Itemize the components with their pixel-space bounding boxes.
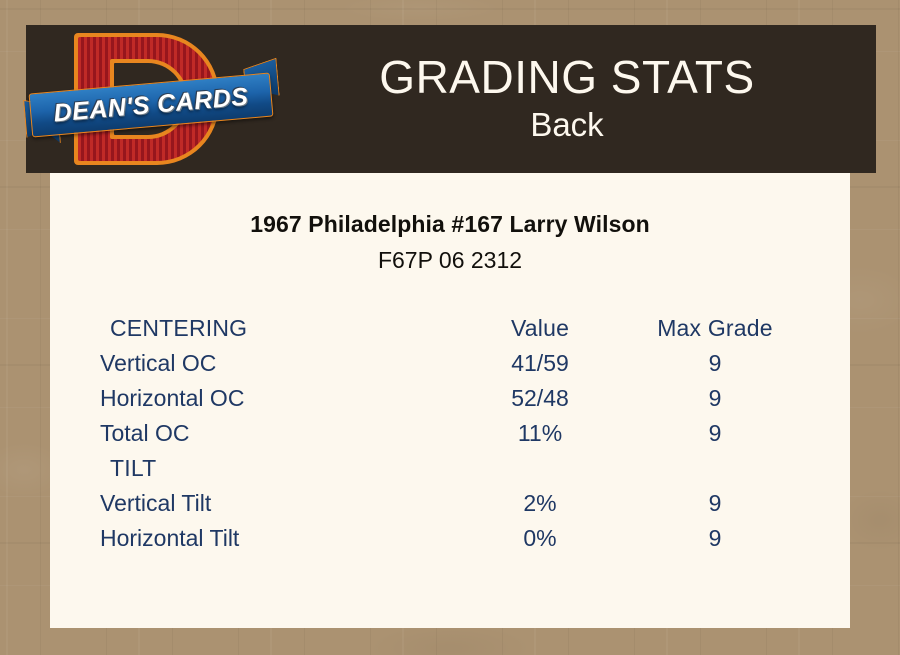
stat-label: Horizontal OC — [100, 381, 450, 416]
table-row: Horizontal OC52/489 — [100, 381, 800, 416]
stat-label: Horizontal Tilt — [100, 521, 450, 556]
table-row: Vertical OC41/599 — [100, 346, 800, 381]
stat-value: 2% — [450, 486, 630, 521]
logo-wordmark: DEAN'S CARDS — [29, 73, 274, 138]
stat-label: Vertical OC — [100, 346, 450, 381]
page-subtitle: Back — [276, 104, 858, 145]
stat-value: 41/59 — [450, 346, 630, 381]
section-header-row: CENTERINGValueMax Grade — [100, 311, 800, 346]
column-header-value: Value — [450, 311, 630, 346]
stat-max-grade: 9 — [630, 346, 800, 381]
section-title: TILT — [100, 451, 450, 486]
stat-label: Vertical Tilt — [100, 486, 450, 521]
stat-max-grade: 9 — [630, 416, 800, 451]
page-title: GRADING STATS — [276, 53, 858, 103]
card-title: 1967 Philadelphia #167 Larry Wilson — [50, 211, 850, 238]
stat-value: 11% — [450, 416, 630, 451]
section-title: CENTERING — [100, 311, 450, 346]
section-header-row: TILT — [100, 451, 800, 486]
table-row: Total OC11%9 — [100, 416, 800, 451]
column-header-max-grade — [630, 451, 800, 486]
grading-stats-table: CENTERINGValueMax GradeVertical OC41/599… — [100, 311, 800, 556]
stat-label: Total OC — [100, 416, 450, 451]
header-title-group: GRADING STATS Back — [276, 53, 876, 146]
column-header-max-grade: Max Grade — [630, 311, 800, 346]
stat-max-grade: 9 — [630, 381, 800, 416]
stat-value: 0% — [450, 521, 630, 556]
logo-ribbon-banner: DEAN'S CARDS — [28, 67, 274, 144]
card-identifier: F67P 06 2312 — [50, 247, 850, 274]
content-panel: 1967 Philadelphia #167 Larry Wilson F67P… — [50, 173, 850, 628]
stat-value: 52/48 — [450, 381, 630, 416]
table-row: Horizontal Tilt0%9 — [100, 521, 800, 556]
table-row: Vertical Tilt2%9 — [100, 486, 800, 521]
column-header-value — [450, 451, 630, 486]
stat-max-grade: 9 — [630, 521, 800, 556]
header-bar: DEAN'S CARDS GRADING STATS Back — [26, 25, 876, 173]
stat-max-grade: 9 — [630, 486, 800, 521]
deans-cards-logo[interactable]: DEAN'S CARDS — [26, 25, 276, 173]
stats-table-body: CENTERINGValueMax GradeVertical OC41/599… — [100, 311, 800, 556]
